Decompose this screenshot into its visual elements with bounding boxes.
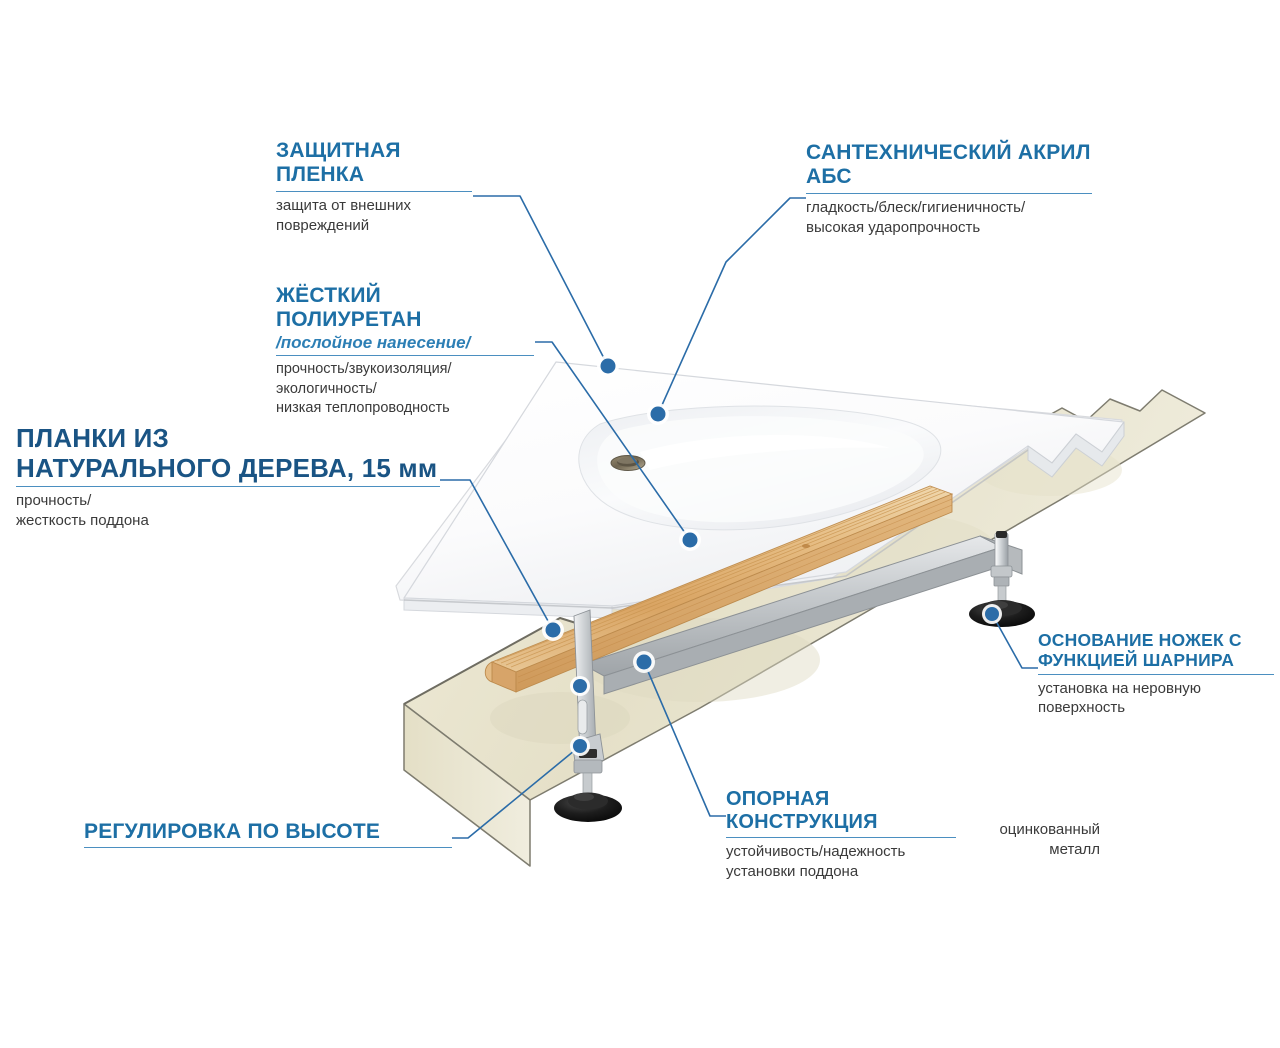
callout-rule [276, 191, 472, 192]
callout-rule [726, 837, 956, 838]
callout-rule [806, 193, 1092, 194]
callout-hinge-feet: ОСНОВАНИЕ НОЖЕК С ФУНКЦИЕЙ ШАРНИРА устан… [1038, 630, 1274, 718]
callout-height-adjustment-title: РЕГУЛИРОВКА ПО ВЫСОТЕ [84, 820, 452, 844]
callout-sanitary-acrylic: САНТЕХНИЧЕСКИЙ АКРИЛ АБС гладкость/блеск… [806, 141, 1092, 237]
drain-ring [611, 456, 645, 471]
callout-rule [16, 486, 440, 487]
callout-wood-slats-title: ПЛАНКИ ИЗ НАТУРАЛЬНОГО ДЕРЕВА, 15 мм [16, 423, 440, 483]
callout-protective-film-body: защита от внешних повреждений [276, 196, 472, 236]
callout-hinge-feet-title: ОСНОВАНИЕ НОЖЕК С ФУНКЦИЕЙ ШАРНИРА [1038, 630, 1274, 671]
callout-polyurethane-title: ЖЁСТКИЙ ПОЛИУРЕТАН [276, 284, 534, 333]
callout-rule [84, 847, 452, 848]
callout-wood-slats: ПЛАНКИ ИЗ НАТУРАЛЬНОГО ДЕРЕВА, 15 мм про… [16, 423, 440, 531]
callout-rule [1038, 674, 1274, 675]
callout-protective-film-title: ЗАЩИТНАЯ ПЛЕНКА [276, 139, 472, 188]
callout-polyurethane: ЖЁСТКИЙ ПОЛИУРЕТАН /послойное нанесение/… [276, 284, 534, 418]
callout-support-frame-body: устойчивость/надежность установки поддон… [726, 842, 956, 882]
callout-wood-slats-body: прочность/ жесткость поддона [16, 491, 440, 531]
callout-galvanized-metal-body: оцинкованный металл [960, 820, 1100, 860]
callout-height-adjustment: РЕГУЛИРОВКА ПО ВЫСОТЕ [84, 820, 452, 852]
callout-rule [276, 355, 534, 356]
callout-support-frame-title: ОПОРНАЯ КОНСТРУКЦИЯ [726, 788, 956, 834]
callout-protective-film: ЗАЩИТНАЯ ПЛЕНКА защита от внешних повреж… [276, 139, 472, 235]
diagram-canvas: ЗАЩИТНАЯ ПЛЕНКА защита от внешних повреж… [0, 0, 1280, 1048]
callout-sanitary-acrylic-body: гладкость/блеск/гигиеничность/ высокая у… [806, 198, 1092, 238]
callout-galvanized-metal: оцинкованный металл [960, 820, 1100, 860]
callout-polyurethane-body: прочность/звукоизоляция/ экологичность/ … [276, 360, 534, 417]
callout-sanitary-acrylic-title: САНТЕХНИЧЕСКИЙ АКРИЛ АБС [806, 141, 1092, 190]
callout-hinge-feet-body: установка на неровную поверхность [1038, 679, 1274, 719]
callout-support-frame: ОПОРНАЯ КОНСТРУКЦИЯ устойчивость/надежно… [726, 788, 956, 882]
callout-polyurethane-subtitle: /послойное нанесение/ [276, 333, 534, 353]
